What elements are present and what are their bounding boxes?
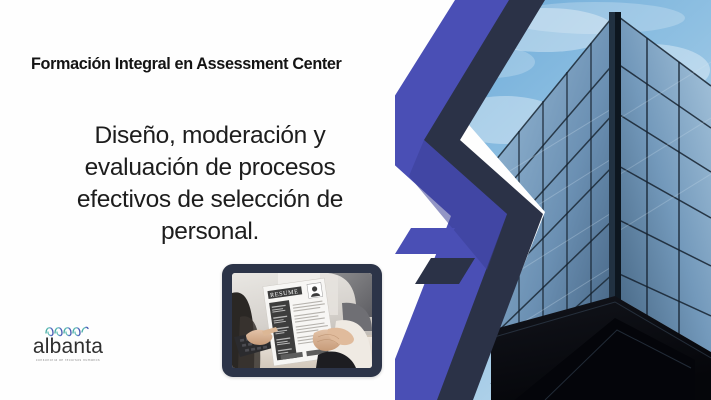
subtitle-block: Diseño, moderación y evaluación de proce… — [40, 120, 380, 247]
tablet-device: RESUME — [222, 264, 382, 377]
albanta-logo: albanta consultoría de recursos humanos — [22, 322, 114, 378]
subtitle-line-4: personal. — [40, 216, 380, 248]
subtitle-line-3: efectivos de selección de — [40, 184, 380, 216]
presentation-slide: Formación Integral en Assessment Center … — [0, 0, 711, 400]
albanta-tagline: consultoría de recursos humanos — [22, 359, 114, 362]
subtitle-line-2: evaluación de procesos — [40, 152, 380, 184]
page-title: Formación Integral en Assessment Center — [31, 55, 401, 74]
albanta-wordmark: albanta — [22, 336, 114, 357]
chevron-building-graphic — [395, 0, 711, 400]
left-content-panel: Formación Integral en Assessment Center … — [0, 0, 420, 400]
subtitle-line-1: Diseño, moderación y — [40, 120, 380, 152]
tablet-screen: RESUME — [232, 273, 372, 368]
